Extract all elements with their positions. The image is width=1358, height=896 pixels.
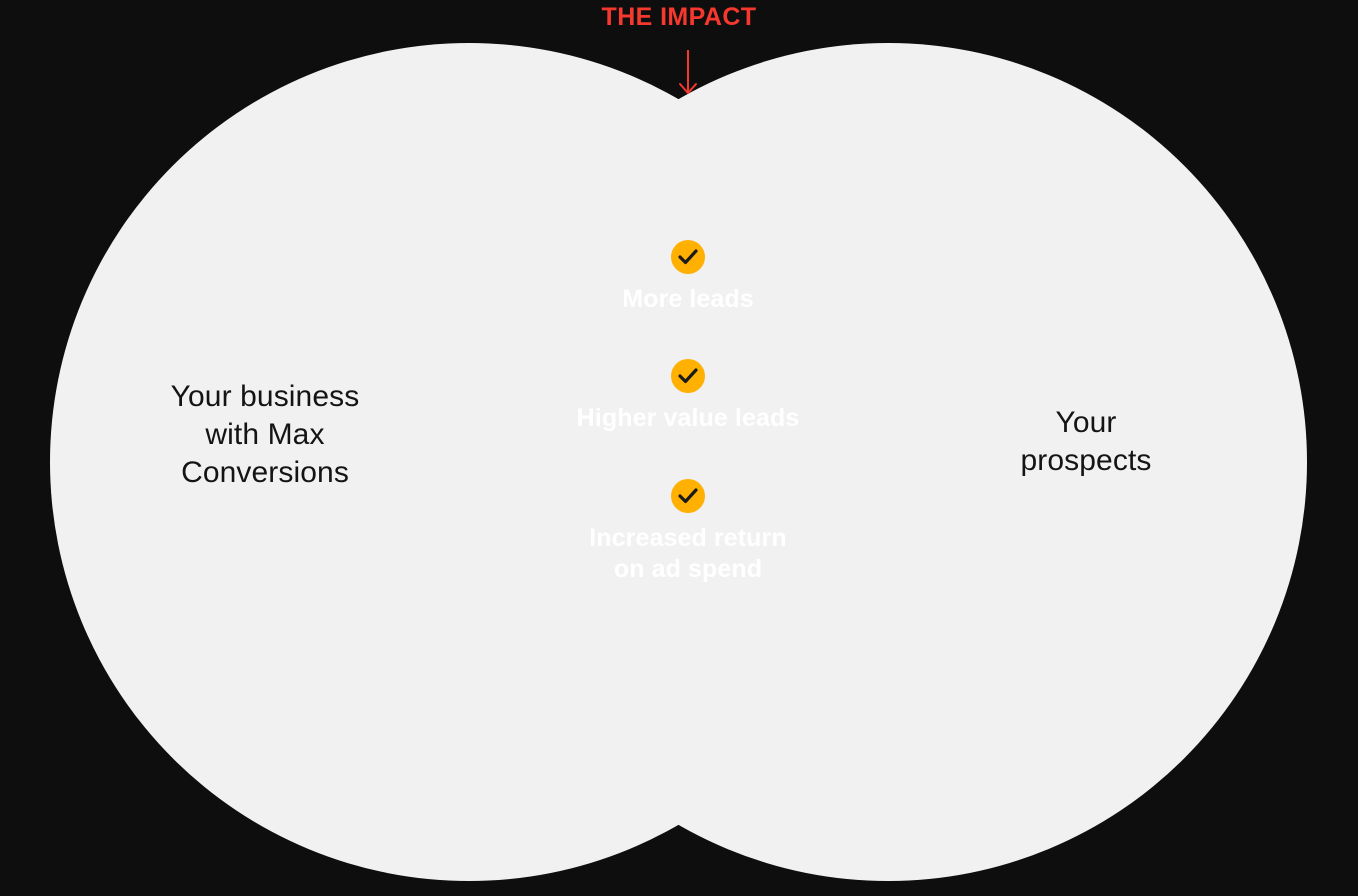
arrow-down-icon — [663, 48, 713, 98]
venn-diagram-canvas: THE IMPACT Your business with Max Conver… — [0, 0, 1358, 896]
benefit-label: Higher value leads — [468, 403, 908, 434]
intersection-benefits-list: More leads Higher value leads Increased … — [468, 240, 908, 585]
benefit-item: Increased return on ad spend — [468, 479, 908, 586]
benefit-label: More leads — [468, 284, 908, 315]
left-circle-label: Your business with Max Conversions — [125, 378, 405, 491]
check-circle-icon — [671, 359, 705, 393]
check-circle-icon — [671, 479, 705, 513]
benefit-item: Higher value leads — [468, 359, 908, 434]
check-circle-icon — [671, 240, 705, 274]
right-circle-label: Your prospects — [950, 404, 1222, 480]
benefit-label: Increased return on ad spend — [468, 523, 908, 586]
benefit-item: More leads — [468, 240, 908, 315]
impact-title: THE IMPACT — [0, 3, 1358, 32]
